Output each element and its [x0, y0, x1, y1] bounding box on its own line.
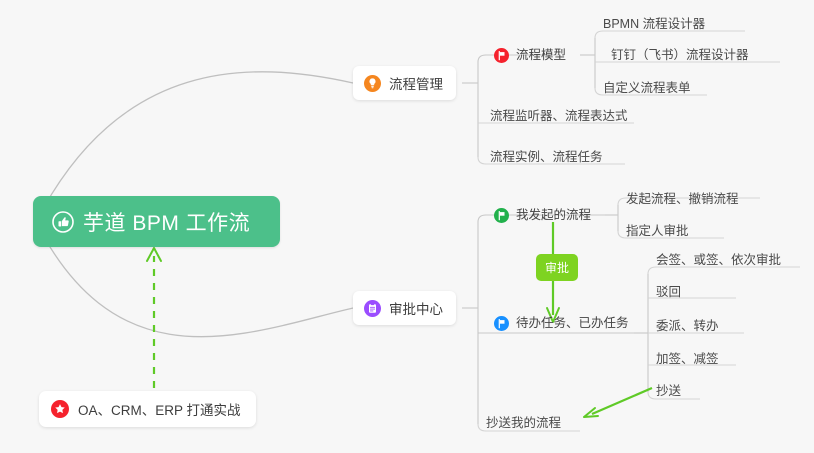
clipboard-icon	[364, 300, 381, 317]
leaf-cc[interactable]: 抄送	[656, 380, 681, 402]
note-node-integration[interactable]: OA、CRM、ERP 打通实战	[39, 391, 256, 427]
flag-icon	[494, 48, 509, 63]
star-icon	[51, 400, 69, 418]
sub-node-my-initiated[interactable]: 我发起的流程	[494, 204, 591, 226]
note-label-integration: OA、CRM、ERP 打通实战	[78, 399, 241, 419]
leaf-delegate-transfer[interactable]: 委派、转办	[656, 315, 719, 337]
leaf-dingtalk-designer[interactable]: 钉钉（飞书）流程设计器	[611, 44, 749, 66]
branch-node-approval-center[interactable]: 审批中心	[353, 291, 456, 325]
sub-label-my-initiated: 我发起的流程	[516, 204, 591, 226]
root-label: 芋道 BPM 工作流	[83, 207, 250, 237]
leaf-add-remove-sign[interactable]: 加签、减签	[656, 348, 719, 370]
flag-icon	[494, 208, 509, 223]
sub-label-todo-done-tasks: 待办任务、已办任务	[516, 312, 629, 334]
mindmap-canvas: 芋道 BPM 工作流 流程管理 流程模型 BPMN 流程设计器 钉钉（飞书）流程…	[0, 0, 814, 453]
dashed-arrow-head	[147, 248, 161, 261]
branch-label-approval-center: 审批中心	[389, 298, 443, 318]
arrow-cc-to-ccflow-head	[584, 408, 598, 417]
lightbulb-icon	[364, 75, 381, 92]
leaf-bpmn-designer[interactable]: BPMN 流程设计器	[603, 13, 705, 35]
flag-icon	[494, 316, 509, 331]
leaf-start-cancel-process[interactable]: 发起流程、撤销流程	[626, 188, 739, 210]
branch-node-process-management[interactable]: 流程管理	[353, 66, 456, 100]
sub-node-todo-done-tasks[interactable]: 待办任务、已办任务	[494, 312, 629, 334]
leaf-countersign[interactable]: 会签、或签、依次审批	[656, 249, 781, 271]
callout-approval: 审批	[536, 254, 578, 281]
leaf-process-listener[interactable]: 流程监听器、流程表达式	[490, 105, 628, 127]
sub-node-process-model[interactable]: 流程模型	[494, 44, 566, 66]
thumbs-up-icon	[52, 211, 74, 233]
leaf-custom-form[interactable]: 自定义流程表单	[603, 77, 691, 99]
leaf-reject[interactable]: 驳回	[656, 281, 681, 303]
arrow-cc-to-ccflow	[592, 388, 652, 414]
leaf-process-instance[interactable]: 流程实例、流程任务	[490, 146, 603, 168]
branch-label-process-management: 流程管理	[389, 73, 443, 93]
sub-label-process-model: 流程模型	[516, 44, 566, 66]
root-node[interactable]: 芋道 BPM 工作流	[33, 196, 280, 247]
leaf-assignee-approval[interactable]: 指定人审批	[626, 220, 689, 242]
leaf-cc-to-me[interactable]: 抄送我的流程	[486, 412, 561, 434]
